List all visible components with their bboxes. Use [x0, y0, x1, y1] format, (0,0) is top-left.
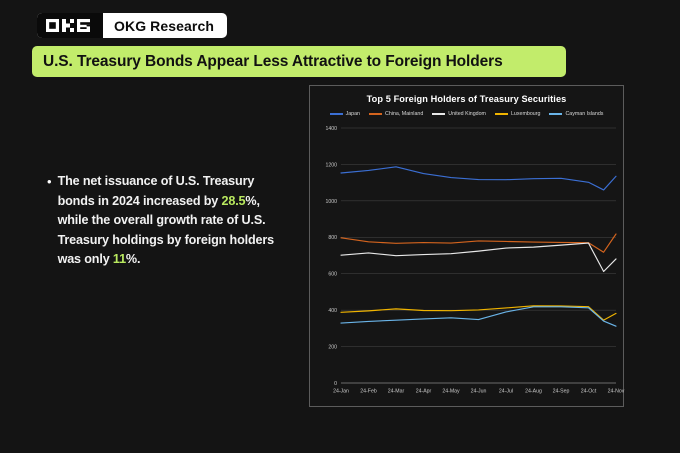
legend-swatch-icon [369, 113, 382, 115]
y-axis-tick-label: 600 [328, 272, 337, 278]
legend-swatch-icon [432, 113, 445, 115]
chart-title: Top 5 Foreign Holders of Treasury Securi… [310, 94, 623, 104]
y-axis-tick-label: 1200 [325, 162, 337, 168]
chart-plot-area: 020040060080010001200140024-Jan24-Feb24-… [310, 122, 623, 405]
legend-item-china-mainland[interactable]: China, Mainland [369, 111, 423, 117]
legend-swatch-icon [330, 113, 343, 115]
series-line-japan [341, 167, 616, 190]
page-title: U.S. Treasury Bonds Appear Less Attracti… [32, 53, 503, 71]
bullet-block: • The net issuance of U.S. Treasury bond… [47, 172, 287, 270]
y-axis-tick-label: 1400 [325, 126, 337, 132]
y-axis-tick-label: 400 [328, 308, 337, 314]
bullet-text: The net issuance of U.S. Treasury bonds … [58, 172, 287, 270]
brand-name: OKG Research [103, 13, 227, 38]
x-axis-tick-label: 24-Nov [608, 389, 625, 395]
chart-svg: 020040060080010001200140024-Jan24-Feb24-… [310, 122, 625, 405]
legend-swatch-icon [549, 113, 562, 115]
chart-legend: JapanChina, MainlandUnited KingdomLuxemb… [310, 111, 623, 117]
legend-label: Cayman Islands [565, 111, 603, 117]
legend-label: United Kingdom [448, 111, 486, 117]
legend-label: China, Mainland [385, 111, 423, 117]
legend-label: Luxembourg [511, 111, 540, 117]
headline-band: U.S. Treasury Bonds Appear Less Attracti… [32, 46, 566, 77]
bullet-part-3: %. [126, 252, 140, 266]
x-axis-tick-label: 24-Mar [388, 389, 405, 395]
x-axis-tick-label: 24-Feb [360, 389, 377, 395]
brand-chip: OKG Research [37, 13, 227, 38]
bullet-highlight-1: 28.5 [222, 194, 246, 208]
legend-label: Japan [346, 111, 360, 117]
legend-item-luxembourg[interactable]: Luxembourg [495, 111, 540, 117]
x-axis-tick-label: 24-May [442, 389, 460, 395]
y-axis-tick-label: 200 [328, 344, 337, 350]
series-line-luxembourg [341, 306, 616, 320]
x-axis-tick-label: 24-Sep [553, 389, 570, 395]
bullet-marker: • [47, 172, 52, 270]
y-axis-tick-label: 1000 [325, 199, 337, 205]
chart-panel: Top 5 Foreign Holders of Treasury Securi… [309, 85, 624, 407]
x-axis-tick-label: 24-Apr [416, 389, 432, 395]
legend-item-cayman-islands[interactable]: Cayman Islands [549, 111, 603, 117]
x-axis-tick-label: 24-Oct [581, 389, 597, 395]
x-axis-tick-label: 24-Jul [499, 389, 513, 395]
x-axis-tick-label: 24-Jan [333, 389, 349, 395]
legend-item-japan[interactable]: Japan [330, 111, 360, 117]
slide-canvas: OKG Research U.S. Treasury Bonds Appear … [0, 0, 680, 453]
y-axis-tick-label: 0 [334, 381, 337, 387]
bullet-highlight-2: 11 [113, 252, 126, 266]
legend-item-united-kingdom[interactable]: United Kingdom [432, 111, 486, 117]
series-line-united-kingdom [341, 243, 616, 271]
x-axis-tick-label: 24-Aug [525, 389, 542, 395]
okg-block-logo-icon [37, 13, 103, 38]
y-axis-tick-label: 800 [328, 235, 337, 241]
series-line-china-mainland [341, 234, 616, 252]
legend-swatch-icon [495, 113, 508, 115]
x-axis-tick-label: 24-Jun [471, 389, 487, 395]
